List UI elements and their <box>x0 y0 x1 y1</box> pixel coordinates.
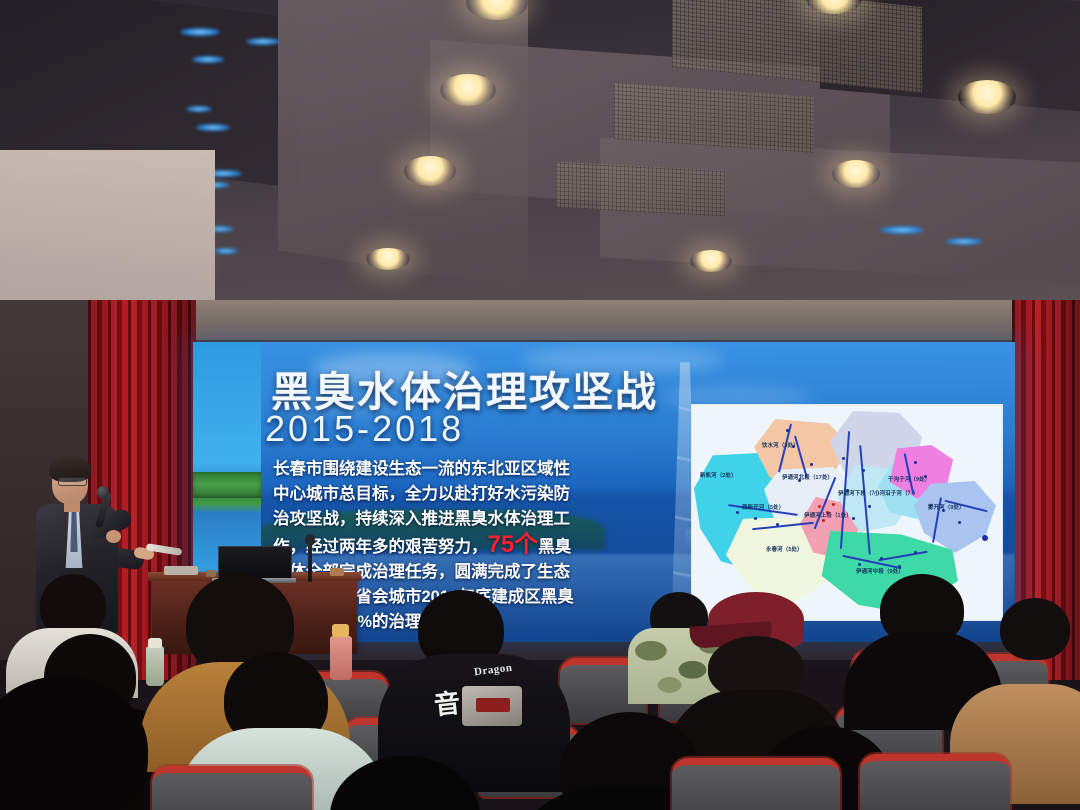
ceiling-downlight <box>690 250 732 272</box>
podium-object <box>164 566 198 575</box>
ceiling-led-accent <box>186 106 212 112</box>
ceiling-led-accent <box>196 124 230 131</box>
map-label-xinkaihe: 新凯河（2处） <box>700 471 737 479</box>
map-label-yongchunhe: 永春河（5处） <box>766 545 803 553</box>
speaker-hand-mic <box>106 530 121 543</box>
slide-strip-vegetation <box>193 472 261 498</box>
water-bottle <box>146 646 164 686</box>
ceiling-led-accent <box>246 38 280 45</box>
auditorium-seat-front <box>860 754 1010 810</box>
ceiling-led-accent <box>214 248 238 254</box>
audience-area: 音 Dragon <box>0 580 1080 810</box>
lecture-hall-photo: 黑臭水体治理攻坚战 2015-2018 长春市围绕建设生态一流的东北亚区域性中心… <box>0 0 1080 810</box>
ceiling-led-accent <box>180 28 220 36</box>
jacket-graphic-cn: 音 <box>432 683 462 723</box>
ceiling-downlight <box>404 156 456 186</box>
auditorium-seat-front <box>672 758 840 810</box>
ceiling-downlight <box>832 160 880 188</box>
map-label-xixinkaihe: 西新开河（5处） <box>742 503 784 511</box>
water-bottle <box>330 636 352 680</box>
ceiling-led-accent <box>880 226 924 234</box>
map-label-yitong-upper: 伊通河上段（1处） <box>804 511 852 519</box>
map-label-yinshuihe: 饮水河（3处） <box>762 441 799 449</box>
map-label-yitong-middle: 伊通河中段（9处） <box>856 567 904 575</box>
speaker-glasses <box>58 477 87 486</box>
map-label-xiaoheyanzi: 小河沿子河（？） <box>874 489 919 497</box>
auditorium-seat-front <box>152 766 312 810</box>
slide-subtitle: 2015-2018 <box>265 408 464 450</box>
ceiling-downlight <box>366 248 410 270</box>
map-label-yitong-north: 伊通河北段（17处） <box>782 473 833 481</box>
map-label-wukaihe: 雾开河（9处） <box>928 503 965 511</box>
podium-object <box>330 568 344 576</box>
stage-header-beam <box>180 300 1080 340</box>
podium-microphone <box>308 540 312 582</box>
ceiling-downlight <box>440 74 496 106</box>
slide-highlight-count: 75个 <box>488 531 539 558</box>
podium-object <box>206 570 216 577</box>
water-bottle-cap <box>332 624 349 637</box>
handheld-microphone-head <box>97 486 109 499</box>
podium-microphone-head <box>305 534 315 546</box>
map-label-gangouzihe: 干沟子河（9处） <box>888 475 930 483</box>
ceiling-led-accent <box>946 238 982 245</box>
water-bottle-cap <box>148 638 162 648</box>
ceiling-led-accent <box>192 56 224 63</box>
ceiling-downlight <box>958 80 1016 114</box>
ceiling-vent-grille <box>556 162 726 217</box>
